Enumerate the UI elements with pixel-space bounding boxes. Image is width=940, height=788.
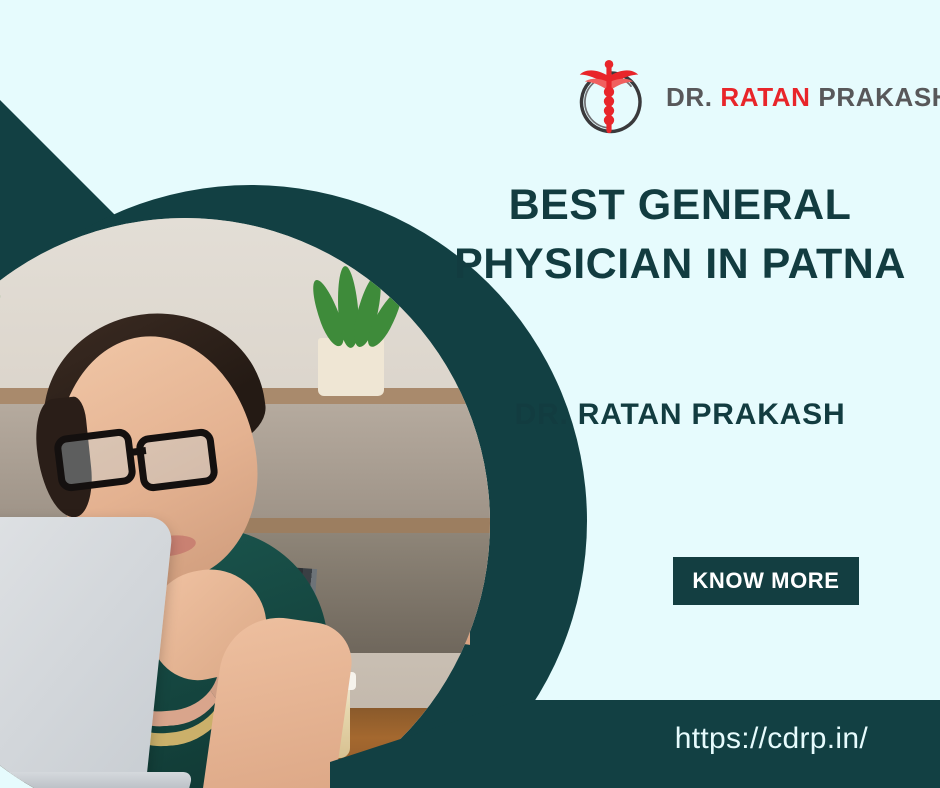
logo-highlight: RATAN bbox=[720, 82, 810, 112]
logo-wordmark: DR. RATAN PRAKASH bbox=[666, 82, 940, 113]
promo-banner: DR. RATAN PRAKASH BEST GENERAL PHYSICIAN… bbox=[0, 0, 940, 788]
know-more-button[interactable]: KNOW MORE bbox=[673, 557, 859, 605]
headline-line-2: PHYSICIAN IN PATNA bbox=[454, 240, 906, 288]
brand-logo[interactable]: DR. RATAN PRAKASH bbox=[566, 54, 940, 140]
caduceus-medical-icon bbox=[566, 54, 652, 140]
logo-prefix: DR. bbox=[666, 82, 713, 112]
headline-line-1: BEST GENERAL bbox=[509, 181, 852, 229]
website-url[interactable]: https://cdrp.in/ bbox=[675, 722, 868, 756]
page-title: BEST GENERAL PHYSICIAN IN PATNA bbox=[430, 176, 930, 295]
doctor-name: DR. RATAN PRAKASH bbox=[430, 398, 930, 432]
doctor-photo bbox=[0, 218, 490, 788]
logo-suffix: PRAKASH bbox=[818, 82, 940, 112]
